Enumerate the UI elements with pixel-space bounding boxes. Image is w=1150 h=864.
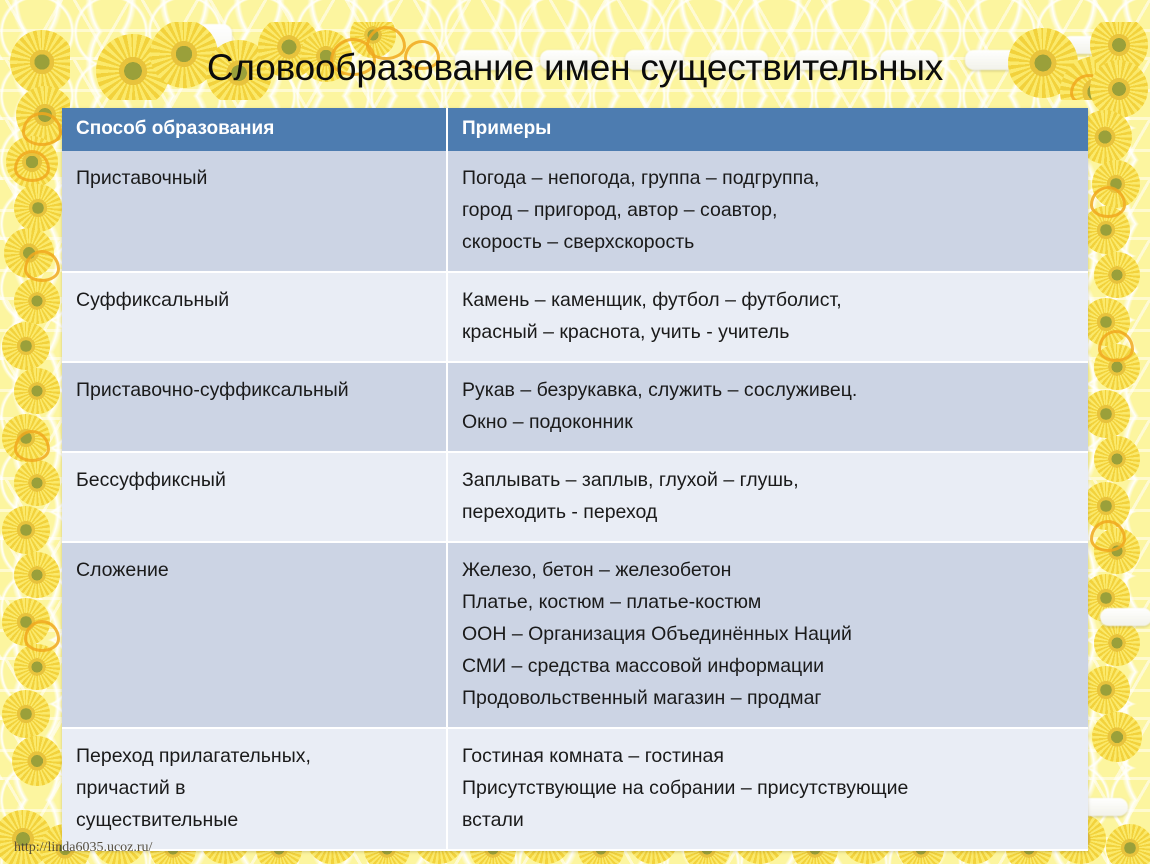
example-line: переходить - переход: [462, 496, 1074, 528]
table-row: Суффиксальный Камень – каменщик, футбол …: [62, 272, 1088, 362]
method-line: причастий в: [76, 772, 432, 804]
example-line: Гостиная комната – гостиная: [462, 740, 1074, 772]
cell-method: Сложение: [62, 542, 447, 728]
table-row: Бессуффиксный Заплывать – заплыв, глухой…: [62, 452, 1088, 542]
example-line: Окно – подоконник: [462, 406, 1074, 438]
example-line: скорость – сверхскорость: [462, 226, 1074, 258]
cell-examples: Гостиная комната – гостиная Присутствующ…: [447, 728, 1088, 850]
column-header-examples: Примеры: [447, 108, 1088, 151]
example-line: Камень – каменщик, футбол – футболист,: [462, 284, 1074, 316]
example-line: Платье, костюм – платье-костюм: [462, 586, 1074, 618]
word-formation-table: Способ образования Примеры Приставочный …: [62, 108, 1088, 851]
table-row: Приставочный Погода – непогода, группа –…: [62, 151, 1088, 272]
table-row: Приставочно-суффиксальный Рукав – безрук…: [62, 362, 1088, 452]
table-row: Переход прилагательных, причастий в суще…: [62, 728, 1088, 850]
footer-source-url[interactable]: http://linda6035.ucoz.ru/: [14, 840, 152, 856]
table-row: Сложение Железо, бетон – железобетон Пла…: [62, 542, 1088, 728]
cell-method: Бессуффиксный: [62, 452, 447, 542]
cell-examples: Камень – каменщик, футбол – футболист, к…: [447, 272, 1088, 362]
cell-method: Переход прилагательных, причастий в суще…: [62, 728, 447, 850]
example-line: Погода – непогода, группа – подгруппа,: [462, 162, 1074, 194]
method-line: Переход прилагательных,: [76, 740, 432, 772]
example-line: Железо, бетон – железобетон: [462, 554, 1074, 586]
cell-examples: Погода – непогода, группа – подгруппа, г…: [447, 151, 1088, 272]
cell-method: Приставочно-суффиксальный: [62, 362, 447, 452]
example-line: встали: [462, 804, 1074, 836]
example-line: Заплывать – заплыв, глухой – глушь,: [462, 464, 1074, 496]
cell-examples: Заплывать – заплыв, глухой – глушь, пере…: [447, 452, 1088, 542]
slide: Словообразование имен существительных Сп…: [0, 0, 1150, 864]
example-line: СМИ – средства массовой информации: [462, 650, 1074, 682]
cell-examples: Железо, бетон – железобетон Платье, кост…: [447, 542, 1088, 728]
example-line: Присутствующие на собрании – присутствую…: [462, 772, 1074, 804]
example-line: красный – краснота, учить - учитель: [462, 316, 1074, 348]
example-line: Продовольственный магазин – продмаг: [462, 682, 1074, 714]
cell-method: Приставочный: [62, 151, 447, 272]
cell-method: Суффиксальный: [62, 272, 447, 362]
example-line: ООН – Организация Объединённых Наций: [462, 618, 1074, 650]
method-line: существительные: [76, 804, 432, 836]
cell-examples: Рукав – безрукавка, служить – сослуживец…: [447, 362, 1088, 452]
page-title: Словообразование имен существительных: [0, 44, 1150, 92]
column-header-method: Способ образования: [62, 108, 447, 151]
example-line: Рукав – безрукавка, служить – сослуживец…: [462, 374, 1074, 406]
table-header-row: Способ образования Примеры: [62, 108, 1088, 151]
example-line: город – пригород, автор – соавтор,: [462, 194, 1074, 226]
